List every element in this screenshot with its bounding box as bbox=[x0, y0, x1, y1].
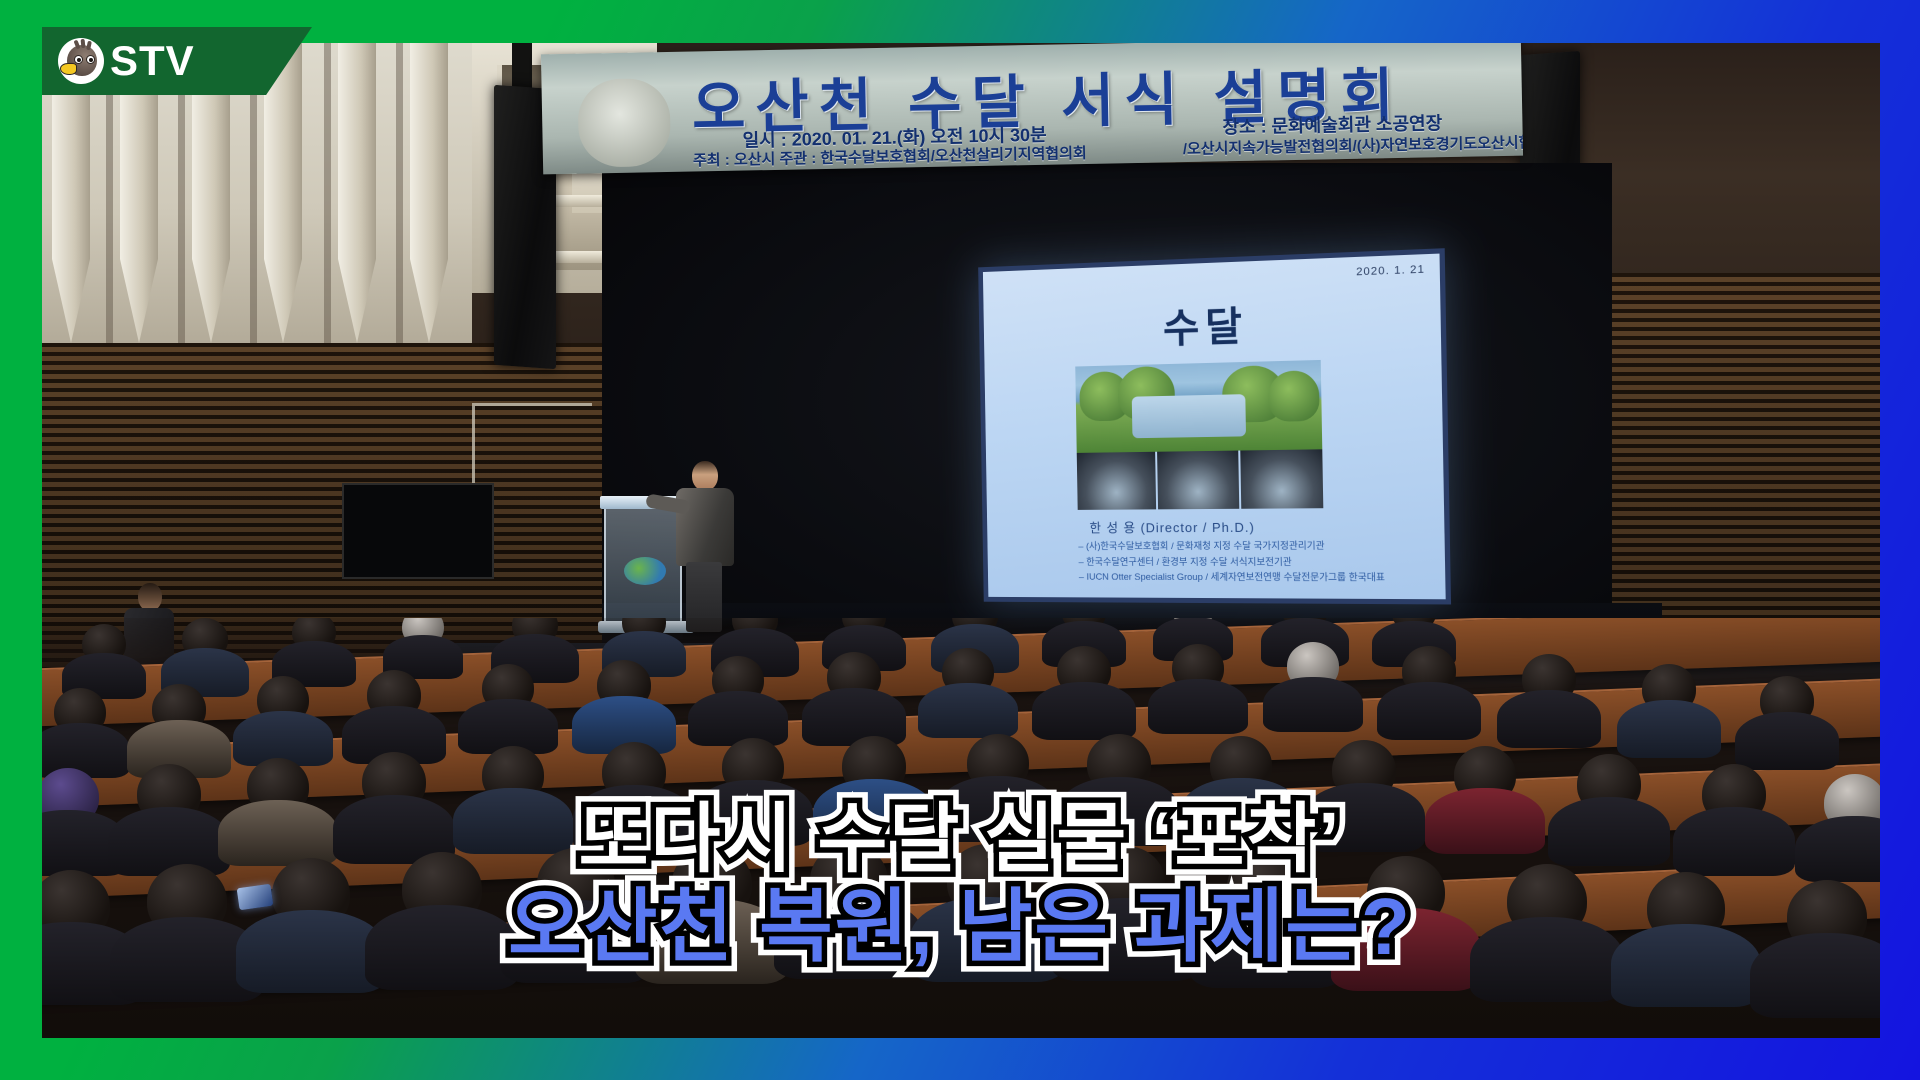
broadcast-frame: 오산천 수달 서식 설명회 일시 : 2020. 01. 21.(화) 오전 1… bbox=[0, 0, 1920, 1080]
slide-bullet: IUCN Otter Specialist Group / 세계자연보전연맹 수… bbox=[1079, 570, 1404, 587]
event-banner: 오산천 수달 서식 설명회 일시 : 2020. 01. 21.(화) 오전 1… bbox=[541, 43, 1523, 174]
bird-icon bbox=[58, 38, 104, 84]
slide-bullet: (사)한국수달보호협회 / 문화재청 지정 수달 국가지정관리기관 bbox=[1078, 538, 1403, 554]
wall-monitor bbox=[342, 483, 494, 579]
presenter bbox=[670, 461, 742, 631]
channel-logo: STV bbox=[42, 27, 312, 95]
slide-title: 수달 bbox=[983, 287, 1441, 360]
balcony-rail bbox=[472, 403, 592, 493]
caption-line2: 오산천 복원, 남은 과제는? bbox=[0, 885, 1920, 968]
slide-camera-trap-images bbox=[1077, 449, 1324, 510]
news-caption: 또다시 수달 실물 ‘포착’ 또다시 수달 실물 ‘포착’ 오산천 복원, 남은… bbox=[0, 800, 1920, 968]
podium-logo-icon bbox=[624, 557, 666, 585]
projection-screen: 2020. 1. 21 수달 한 성 용 (Director / Ph.D.) … bbox=[978, 248, 1451, 604]
slide-river-photo bbox=[1075, 360, 1322, 453]
slide-date: 2020. 1. 21 bbox=[1356, 263, 1425, 278]
channel-logo-text: STV bbox=[110, 40, 195, 82]
slide-bullet-list: (사)한국수달보호협회 / 문화재청 지정 수달 국가지정관리기관 한국수달연구… bbox=[1078, 538, 1403, 586]
speaker-truss bbox=[512, 43, 532, 91]
caption-line1: 또다시 수달 실물 ‘포착’ bbox=[0, 800, 1920, 879]
slide-bullet: 한국수달연구센터 / 환경부 지정 수달 서식지보전기관 bbox=[1078, 555, 1403, 571]
slide-presenter-name: 한 성 용 (Director / Ph.D.) bbox=[1089, 517, 1255, 537]
banner-blotch bbox=[577, 78, 671, 168]
